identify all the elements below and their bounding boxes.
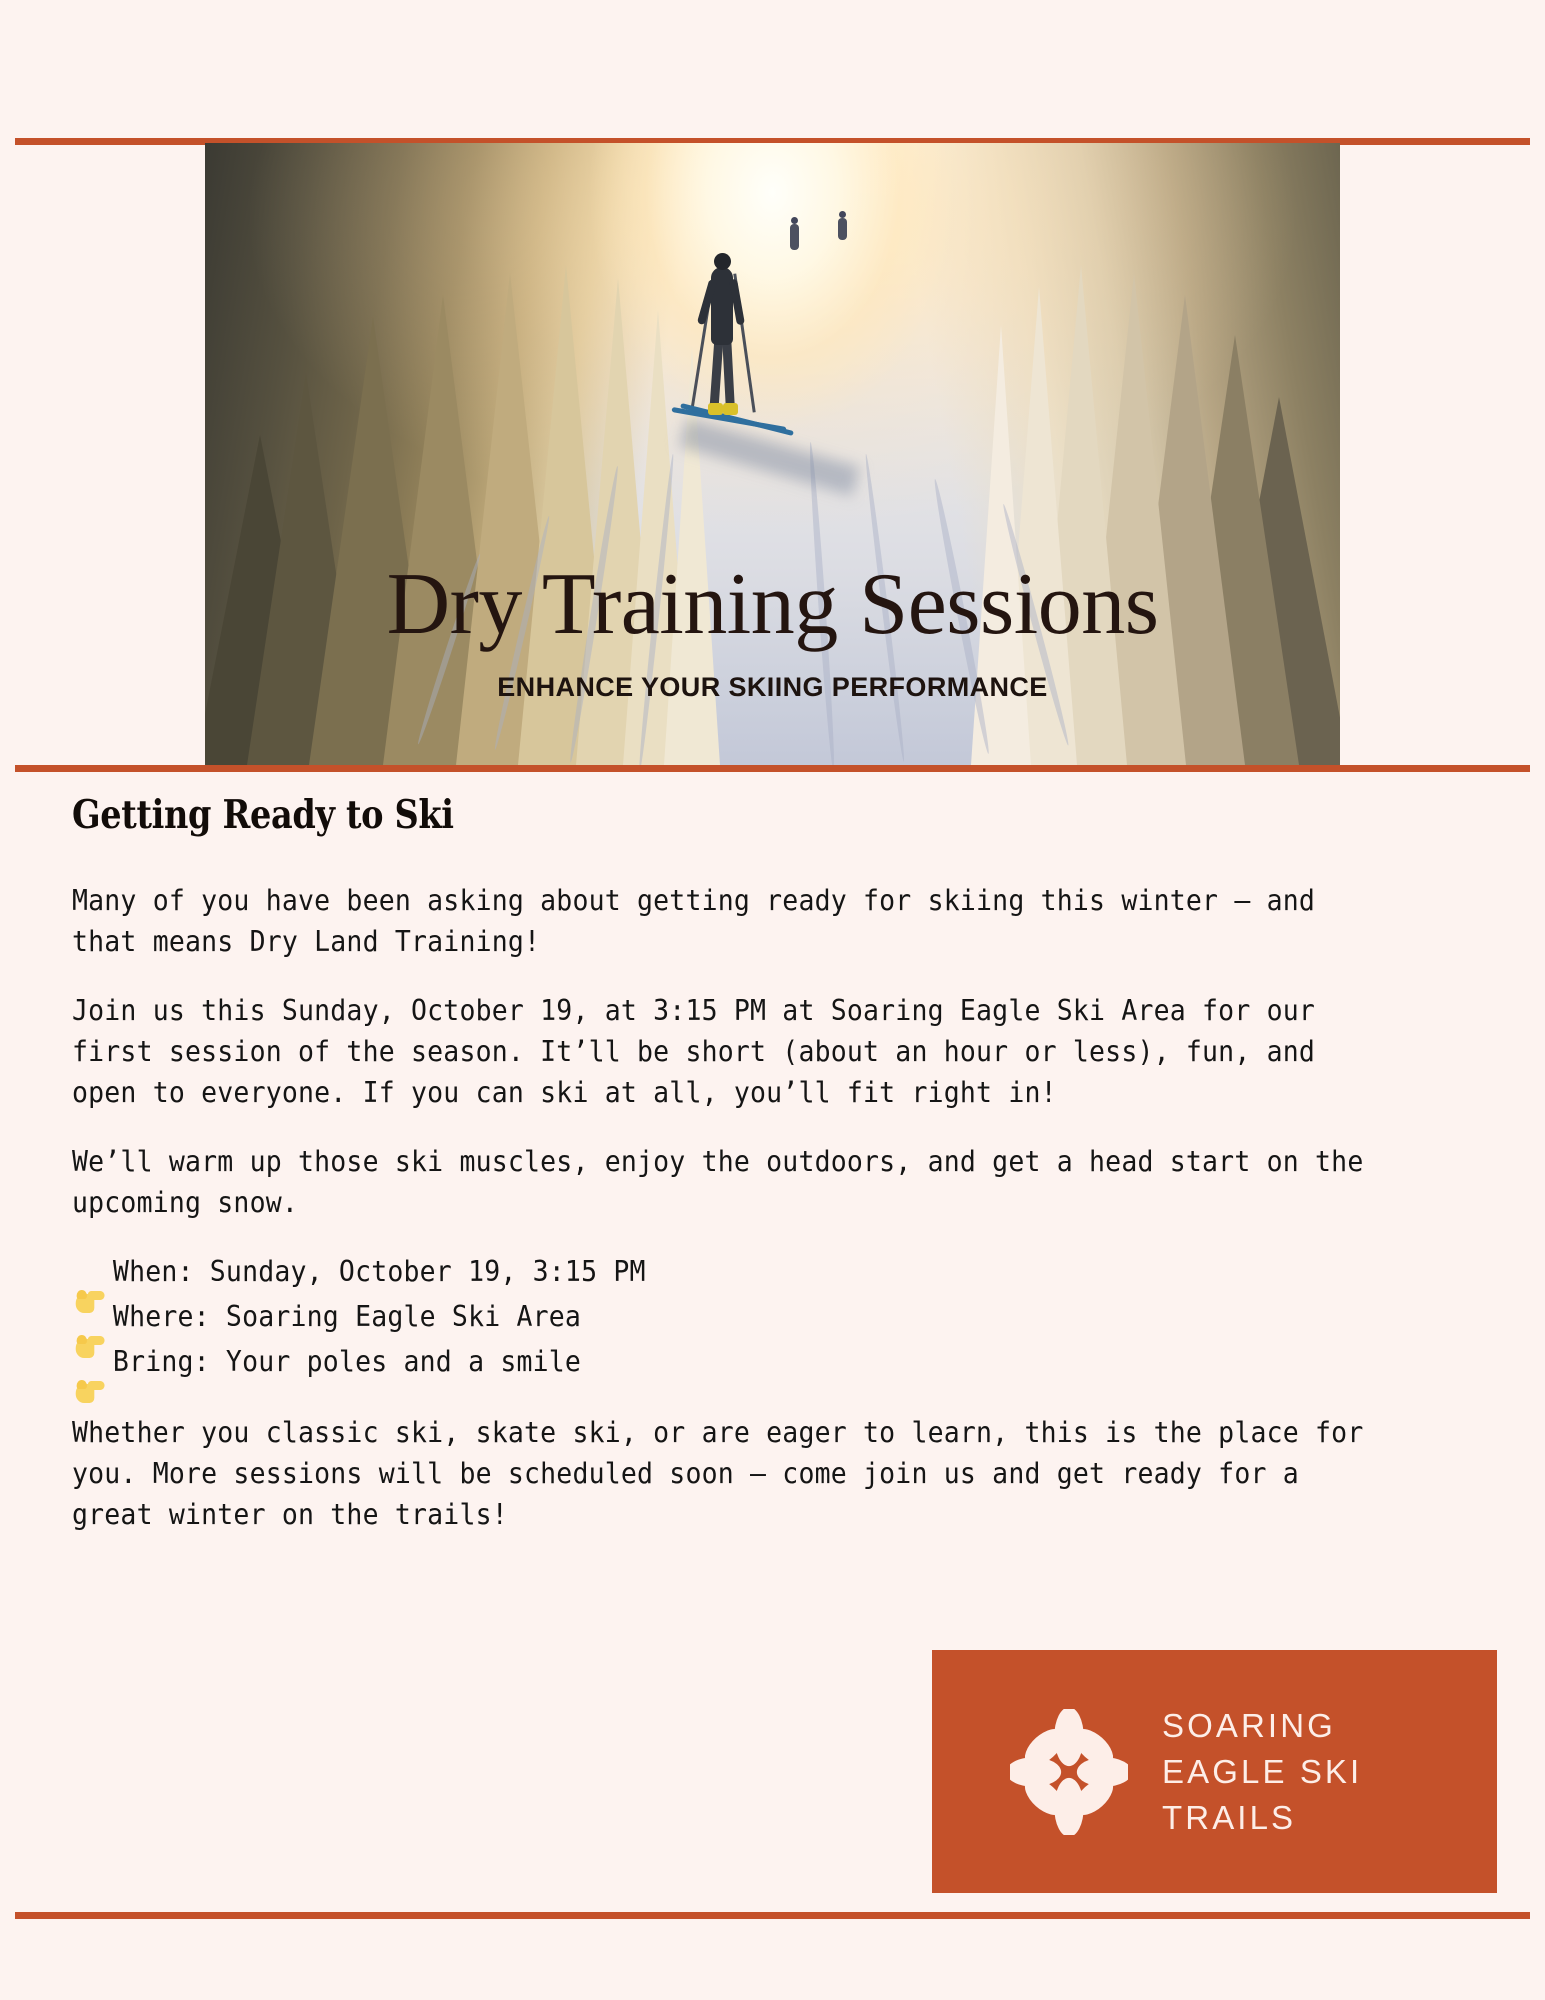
section-heading: Getting Ready to Ski <box>72 796 454 835</box>
hero-photo: Dry Training Sessions ENHANCE YOUR SKIIN… <box>205 143 1340 765</box>
detail-text-when: When: Sunday, October 19, 3:15 PM <box>113 1251 1374 1292</box>
brand-name: SOARING EAGLE SKI TRAILS <box>1162 1703 1362 1841</box>
brand-logo-block: SOARING EAGLE SKI TRAILS <box>932 1650 1497 1893</box>
detail-text-bring: Bring: Your poles and a smile <box>113 1341 1374 1382</box>
list-item-bring: Bring: Your poles and a smile <box>72 1341 1374 1382</box>
list-item-when: When: Sunday, October 19, 3:15 PM <box>72 1251 1374 1292</box>
distant-skier <box>790 224 799 250</box>
foreground-skier <box>693 267 753 477</box>
eight-petal-snowflake-icon <box>1010 1709 1128 1835</box>
ski-boot-left <box>708 403 723 415</box>
skier-leg-right <box>722 337 735 409</box>
flyer-subtitle: ENHANCE YOUR SKIING PERFORMANCE <box>205 672 1340 703</box>
list-item-where: Where: Soaring Eagle Ski Area <box>72 1296 1374 1337</box>
flyer-title: Dry Training Sessions <box>205 561 1340 649</box>
distant-skier <box>838 218 847 240</box>
paragraph-intro: Many of you have been asking about getti… <box>72 880 1374 962</box>
brand-line-1: SOARING <box>1162 1703 1362 1749</box>
skier-head <box>714 253 731 270</box>
bottom-divider-rule <box>15 1912 1530 1919</box>
skier-leg-left <box>710 337 724 409</box>
event-details-list: When: Sunday, October 19, 3:15 PM Where:… <box>72 1251 1472 1382</box>
paragraph-closing: Whether you classic ski, skate ski, or a… <box>72 1412 1374 1535</box>
flyer-page: Dry Training Sessions ENHANCE YOUR SKIIN… <box>0 0 1545 2000</box>
middle-divider-rule <box>15 765 1530 772</box>
paragraph-invite: Join us this Sunday, October 19, at 3:15… <box>72 990 1374 1113</box>
ski-boot-right <box>723 403 738 415</box>
skier-torso <box>711 267 733 345</box>
detail-text-where: Where: Soaring Eagle Ski Area <box>113 1296 1374 1337</box>
paragraph-warmup: We’ll warm up those ski muscles, enjoy t… <box>72 1141 1374 1223</box>
article-body: Many of you have been asking about getti… <box>72 880 1472 1535</box>
brand-line-2: EAGLE SKI <box>1162 1749 1362 1795</box>
brand-line-3: TRAILS <box>1162 1795 1362 1841</box>
